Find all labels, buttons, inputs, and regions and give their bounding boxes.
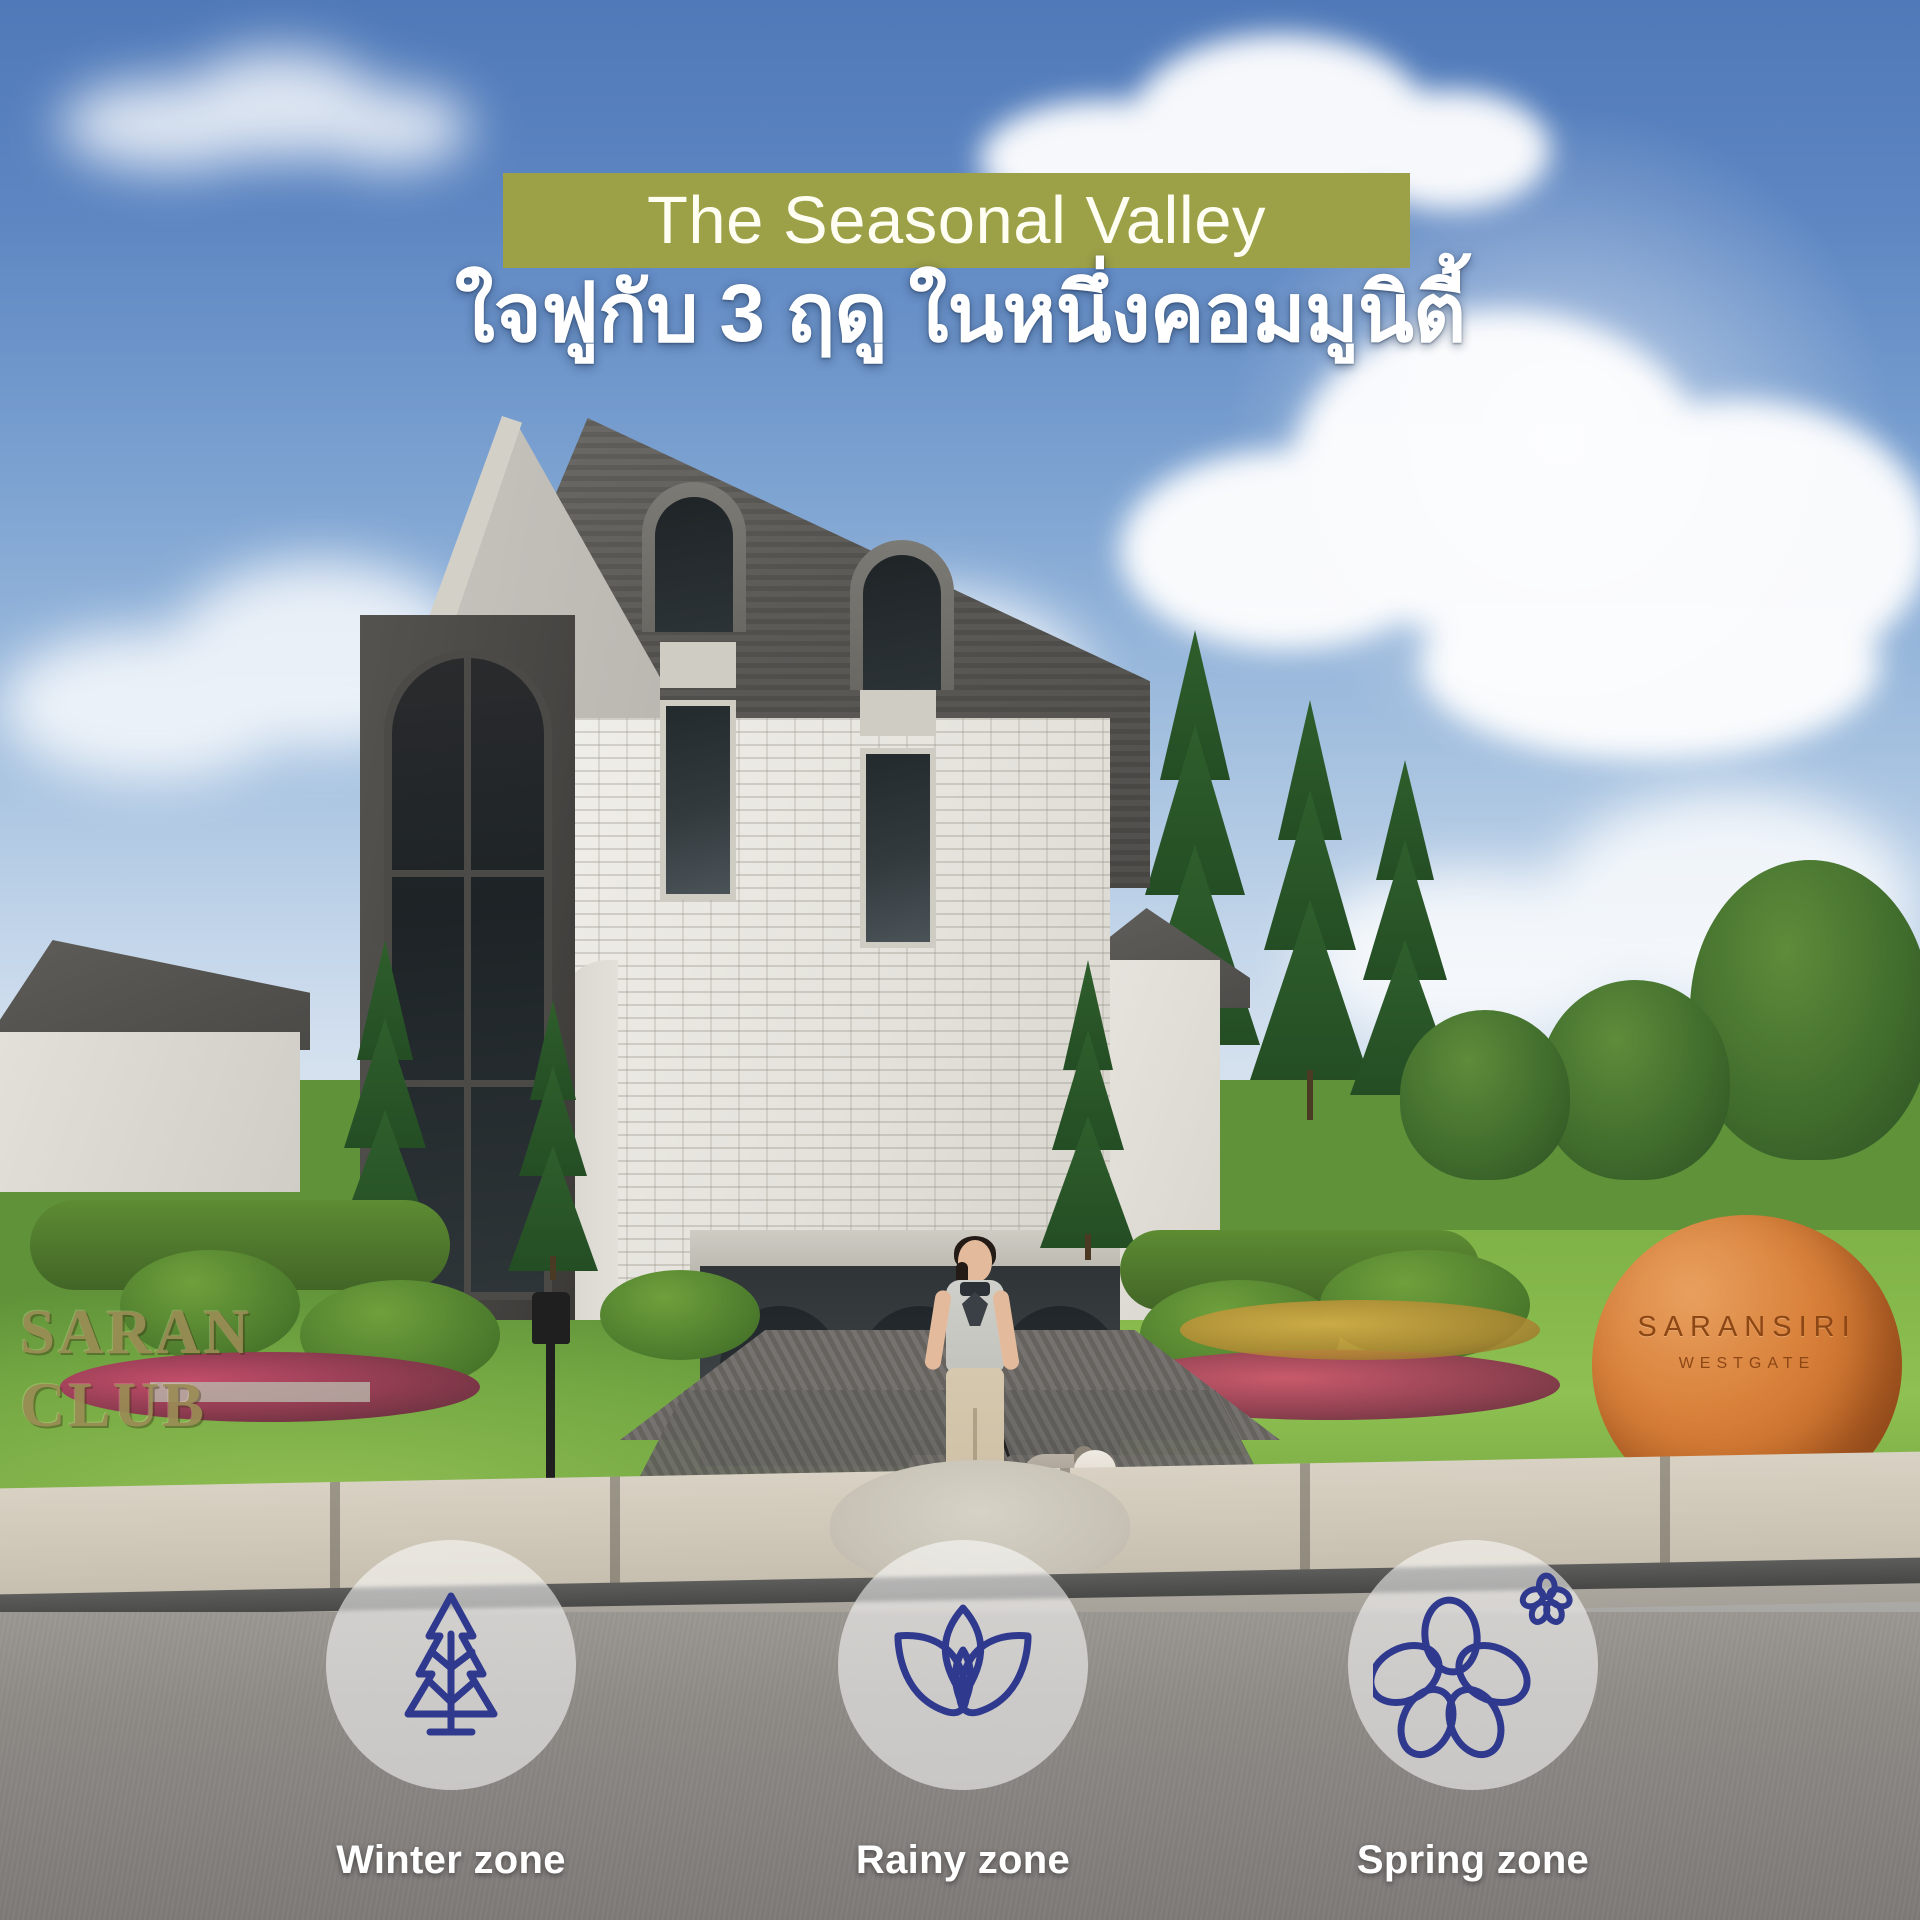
mullion — [384, 870, 552, 877]
window-lintel — [660, 642, 736, 688]
zone-circle-rainy[interactable] — [838, 1540, 1088, 1790]
zone-label-spring: Spring zone — [1263, 1838, 1683, 1883]
brick-facade — [570, 718, 1110, 1318]
neighbor-house — [0, 940, 310, 1190]
title-badge: The Seasonal Valley — [503, 173, 1410, 268]
marketing-poster: SARAN CLUB SARANSIRI WESTGATE — [0, 0, 1920, 1920]
zone-label-winter: Winter zone — [241, 1838, 661, 1883]
pine-tree — [508, 1000, 598, 1280]
flower-bed — [1180, 1300, 1540, 1360]
sphere-brand-text: SARANSIRI — [1592, 1311, 1902, 1344]
title-badge-text: The Seasonal Valley — [647, 187, 1266, 254]
background-tree — [1400, 1010, 1570, 1180]
show-home — [360, 400, 1300, 1340]
zone-circle-winter[interactable] — [326, 1540, 576, 1790]
dormer-window — [642, 482, 746, 632]
cloud — [60, 40, 480, 190]
pine-tree-icon — [326, 1540, 576, 1790]
frangipani-flower-icon — [1348, 1540, 1598, 1790]
window-lintel — [860, 690, 936, 736]
facade-window — [860, 748, 936, 948]
lotus-flower-icon — [838, 1540, 1088, 1790]
saran-club-sign: SARAN CLUB — [20, 1296, 440, 1376]
mullion — [464, 650, 471, 1300]
lamp-head — [532, 1292, 570, 1344]
pine-tree — [1040, 960, 1136, 1260]
sphere-location-text: WESTGATE — [1592, 1355, 1902, 1373]
thai-headline: ใจฟูกับ 3 ฤดู ในหนึ่งคอมมูนิตี้ — [0, 268, 1920, 360]
dormer-window — [850, 540, 954, 690]
shrub — [600, 1270, 760, 1360]
zone-circle-spring[interactable] — [1348, 1540, 1598, 1790]
zone-label-rainy: Rainy zone — [753, 1838, 1173, 1883]
facade-window — [660, 700, 736, 900]
